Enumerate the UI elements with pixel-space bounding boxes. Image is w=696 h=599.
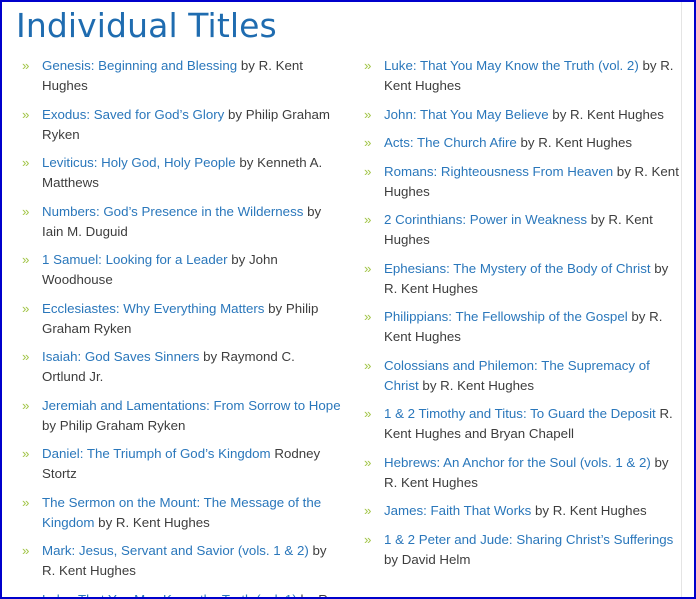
double-chevron-right-icon: » bbox=[364, 501, 371, 521]
left-column: »Genesis: Beginning and Blessing by R. K… bbox=[2, 56, 348, 599]
list-item: »Acts: The Church Afire by R. Kent Hughe… bbox=[358, 133, 682, 153]
list-item: »Colossians and Philemon: The Supremacy … bbox=[358, 356, 682, 396]
list-item: »Ephesians: The Mystery of the Body of C… bbox=[358, 259, 682, 299]
book-title-link[interactable]: 1 & 2 Peter and Jude: Sharing Christ’s S… bbox=[384, 532, 673, 547]
book-title-link[interactable]: Ecclesiastes: Why Everything Matters bbox=[42, 301, 264, 316]
book-title-link[interactable]: Philippians: The Fellowship of the Gospe… bbox=[384, 309, 628, 324]
left-column-list: »Genesis: Beginning and Blessing by R. K… bbox=[16, 56, 342, 599]
list-item: »1 & 2 Peter and Jude: Sharing Christ’s … bbox=[358, 530, 682, 570]
list-item: »Numbers: God’s Presence in the Wilderne… bbox=[16, 202, 342, 242]
double-chevron-right-icon: » bbox=[364, 356, 371, 376]
double-chevron-right-icon: » bbox=[22, 105, 29, 125]
list-item: »Daniel: The Triumph of God’s Kingdom Ro… bbox=[16, 444, 342, 484]
book-title-link[interactable]: 2 Corinthians: Power in Weakness bbox=[384, 212, 587, 227]
double-chevron-right-icon: » bbox=[364, 105, 371, 125]
double-chevron-right-icon: » bbox=[22, 347, 29, 367]
double-chevron-right-icon: » bbox=[22, 590, 29, 599]
double-chevron-right-icon: » bbox=[22, 153, 29, 173]
book-author: by R. Kent Hughes bbox=[94, 515, 209, 530]
list-item: »1 Samuel: Looking for a Leader by John … bbox=[16, 250, 342, 290]
book-title-link[interactable]: James: Faith That Works bbox=[384, 503, 531, 518]
list-item: »Ecclesiastes: Why Everything Matters by… bbox=[16, 299, 342, 339]
list-item: »Leviticus: Holy God, Holy People by Ken… bbox=[16, 153, 342, 193]
double-chevron-right-icon: » bbox=[364, 530, 371, 550]
list-item: »Genesis: Beginning and Blessing by R. K… bbox=[16, 56, 342, 96]
book-title-link[interactable]: Luke: That You May Know the Truth (vol. … bbox=[42, 592, 297, 599]
book-title-link[interactable]: Ephesians: The Mystery of the Body of Ch… bbox=[384, 261, 651, 276]
list-item: »2 Corinthians: Power in Weakness by R. … bbox=[358, 210, 682, 250]
book-author: by R. Kent Hughes bbox=[419, 378, 534, 393]
book-author: by David Helm bbox=[384, 552, 470, 567]
list-item: »The Sermon on the Mount: The Message of… bbox=[16, 493, 342, 533]
book-title-link[interactable]: 1 & 2 Timothy and Titus: To Guard the De… bbox=[384, 406, 656, 421]
book-title-link[interactable]: Luke: That You May Know the Truth (vol. … bbox=[384, 58, 639, 73]
double-chevron-right-icon: » bbox=[364, 307, 371, 327]
list-item: »Hebrews: An Anchor for the Soul (vols. … bbox=[358, 453, 682, 493]
book-author: by R. Kent Hughes bbox=[517, 135, 632, 150]
titles-columns: »Genesis: Beginning and Blessing by R. K… bbox=[2, 48, 694, 599]
book-title-link[interactable]: Daniel: The Triumph of God’s Kingdom bbox=[42, 446, 271, 461]
double-chevron-right-icon: » bbox=[22, 56, 29, 76]
double-chevron-right-icon: » bbox=[364, 56, 371, 76]
double-chevron-right-icon: » bbox=[364, 259, 371, 279]
right-column: »Luke: That You May Know the Truth (vol.… bbox=[348, 56, 694, 578]
double-chevron-right-icon: » bbox=[364, 133, 371, 153]
list-item: »Jeremiah and Lamentations: From Sorrow … bbox=[16, 396, 342, 436]
list-item: »1 & 2 Timothy and Titus: To Guard the D… bbox=[358, 404, 682, 444]
content-area: Individual Titles »Genesis: Beginning an… bbox=[2, 2, 694, 597]
list-item: »James: Faith That Works by R. Kent Hugh… bbox=[358, 501, 682, 521]
list-item: »Romans: Righteousness From Heaven by R.… bbox=[358, 162, 682, 202]
double-chevron-right-icon: » bbox=[22, 493, 29, 513]
double-chevron-right-icon: » bbox=[22, 299, 29, 319]
list-item: »Exodus: Saved for God’s Glory by Philip… bbox=[16, 105, 342, 145]
list-item: »Luke: That You May Know the Truth (vol.… bbox=[358, 56, 682, 96]
book-title-link[interactable]: Acts: The Church Afire bbox=[384, 135, 517, 150]
double-chevron-right-icon: » bbox=[364, 404, 371, 424]
double-chevron-right-icon: » bbox=[364, 162, 371, 182]
book-title-link[interactable]: Jeremiah and Lamentations: From Sorrow t… bbox=[42, 398, 341, 413]
book-title-link[interactable]: Leviticus: Holy God, Holy People bbox=[42, 155, 236, 170]
page-container: Individual Titles »Genesis: Beginning an… bbox=[0, 0, 696, 599]
book-title-link[interactable]: John: That You May Believe bbox=[384, 107, 549, 122]
list-item: »Luke: That You May Know the Truth (vol.… bbox=[16, 590, 342, 599]
double-chevron-right-icon: » bbox=[22, 202, 29, 222]
book-title-link[interactable]: Romans: Righteousness From Heaven bbox=[384, 164, 613, 179]
list-item: »Mark: Jesus, Servant and Savior (vols. … bbox=[16, 541, 342, 581]
page-title: Individual Titles bbox=[2, 2, 694, 48]
book-author: by R. Kent Hughes bbox=[549, 107, 664, 122]
list-item: »Philippians: The Fellowship of the Gosp… bbox=[358, 307, 682, 347]
double-chevron-right-icon: » bbox=[22, 444, 29, 464]
book-author: by Philip Graham Ryken bbox=[42, 418, 185, 433]
book-title-link[interactable]: Numbers: God’s Presence in the Wildernes… bbox=[42, 204, 303, 219]
double-chevron-right-icon: » bbox=[22, 250, 29, 270]
right-column-list: »Luke: That You May Know the Truth (vol.… bbox=[358, 56, 682, 570]
list-item: »John: That You May Believe by R. Kent H… bbox=[358, 105, 682, 125]
book-author: by R. Kent Hughes bbox=[531, 503, 646, 518]
book-title-link[interactable]: Isaiah: God Saves Sinners bbox=[42, 349, 199, 364]
book-title-link[interactable]: 1 Samuel: Looking for a Leader bbox=[42, 252, 228, 267]
book-title-link[interactable]: Mark: Jesus, Servant and Savior (vols. 1… bbox=[42, 543, 309, 558]
book-title-link[interactable]: Exodus: Saved for God’s Glory bbox=[42, 107, 224, 122]
double-chevron-right-icon: » bbox=[364, 453, 371, 473]
double-chevron-right-icon: » bbox=[22, 541, 29, 561]
double-chevron-right-icon: » bbox=[22, 396, 29, 416]
book-title-link[interactable]: Genesis: Beginning and Blessing bbox=[42, 58, 237, 73]
double-chevron-right-icon: » bbox=[364, 210, 371, 230]
book-title-link[interactable]: Hebrews: An Anchor for the Soul (vols. 1… bbox=[384, 455, 651, 470]
list-item: »Isaiah: God Saves Sinners by Raymond C.… bbox=[16, 347, 342, 387]
